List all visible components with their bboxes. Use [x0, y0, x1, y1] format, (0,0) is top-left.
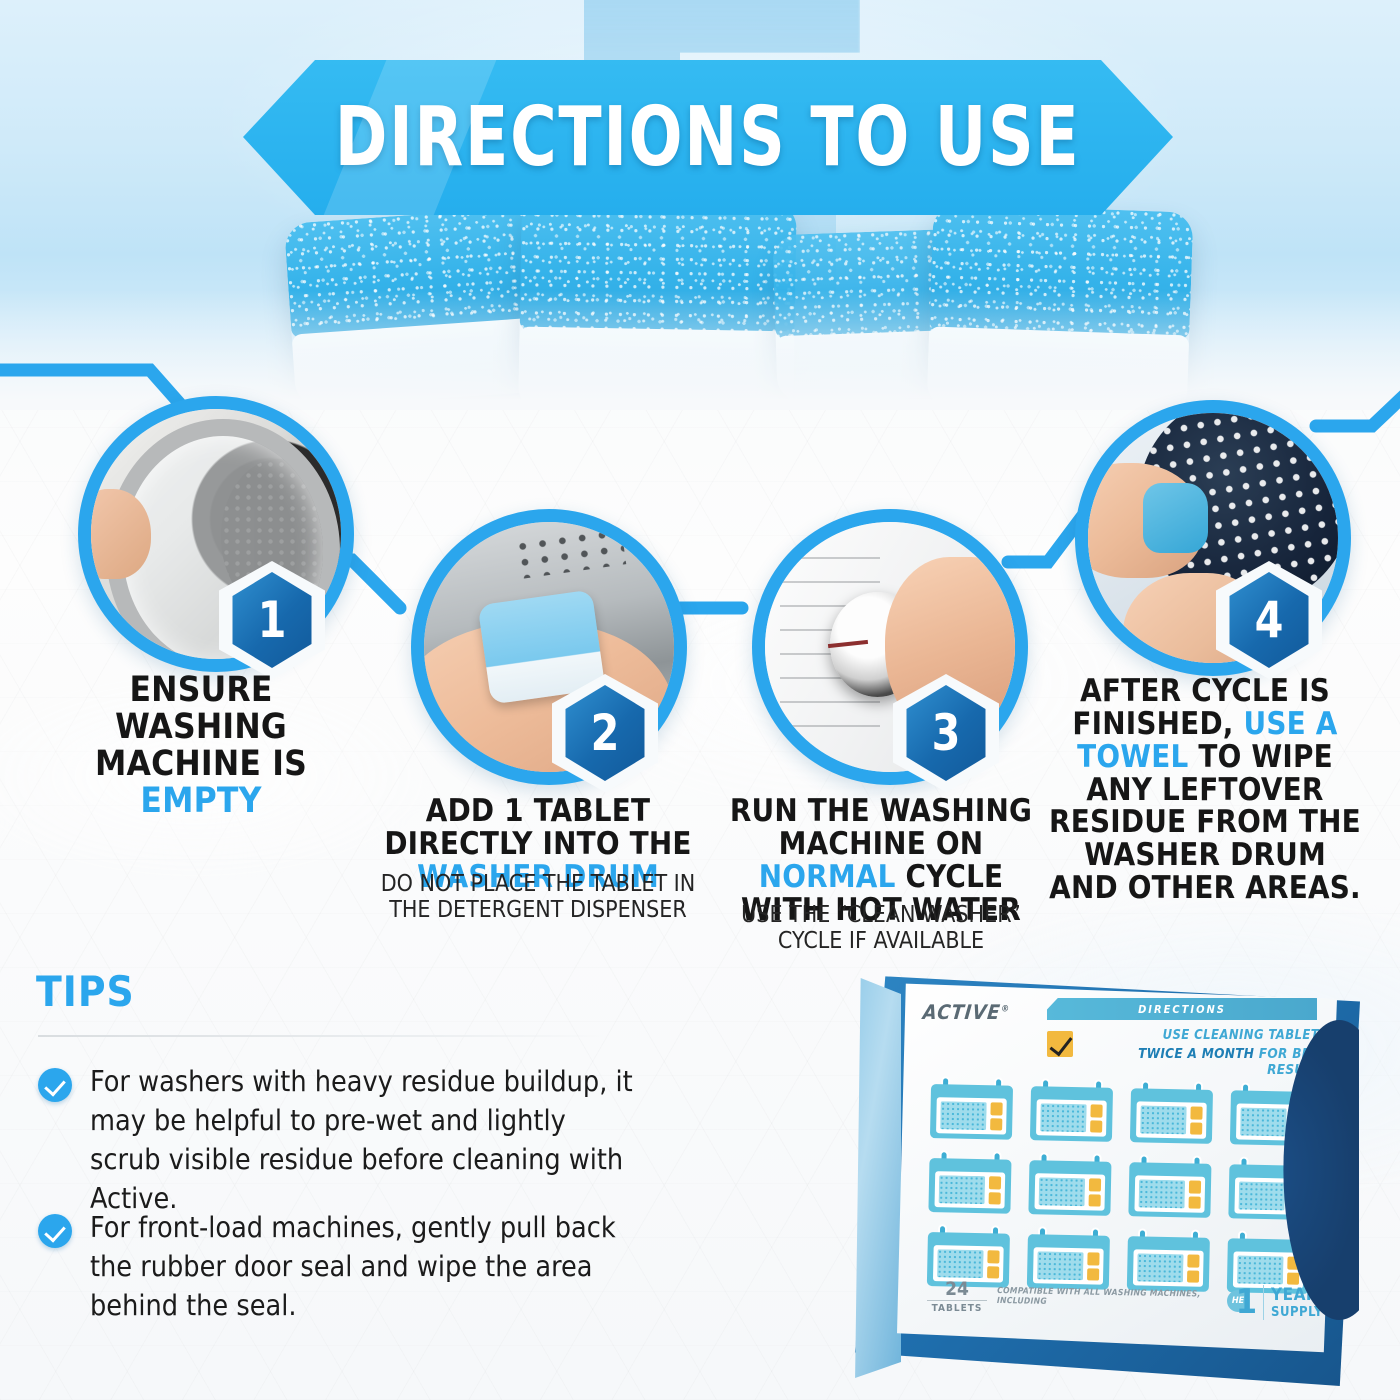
box-checkbox-icon: [1047, 1031, 1073, 1057]
page-title: DIRECTIONS TO USE: [335, 90, 1081, 185]
box-compatibility-text: COMPATIBLE WITH ALL WASHING MACHINES, IN…: [997, 1286, 1227, 1310]
calendar-icon: [1023, 1226, 1114, 1290]
infographic-canvas: DIRECTIONS TO USE 1 ENSURE WASHING MACHI…: [0, 0, 1400, 1400]
product-box-image: ACTIVE® DIRECTIONS USE CLEANING TABLETS …: [845, 960, 1365, 1390]
step-2-number: 2: [591, 704, 620, 762]
step-1-caption: ENSURE WASHING MACHINE IS EMPTY: [46, 672, 356, 820]
step-1-caption-highlight: EMPTY: [140, 781, 261, 821]
box-front-panel: ACTIVE® DIRECTIONS USE CLEANING TABLETS …: [897, 976, 1337, 1356]
box-brand-logo: ACTIVE®: [922, 1000, 1011, 1024]
step-3-caption-pre: RUN THE WASHING MACHINE ON: [730, 793, 1032, 862]
step-4-caption: AFTER CYCLE IS FINISHED, USE A TOWEL TO …: [1045, 675, 1365, 905]
step-3-number: 3: [932, 704, 961, 762]
tip-item-1: For washers with heavy residue buildup, …: [38, 1062, 638, 1218]
tips-heading: TIPS: [36, 967, 135, 1016]
step-2-caption-pre: ADD 1 TABLET DIRECTLY INTO THE: [384, 793, 691, 862]
check-circle-icon: [38, 1214, 72, 1248]
step-4-number: 4: [1255, 591, 1284, 649]
calendar-icon: [1124, 1154, 1215, 1218]
box-instruction-line2: TWICE A MONTH FOR BEST RESULTS: [1083, 1046, 1328, 1078]
box-instruction-line1: USE CLEANING TABLETS: [1083, 1028, 1328, 1043]
header-banner: DIRECTIONS TO USE: [243, 60, 1173, 215]
step-3-caption-highlight: NORMAL: [759, 859, 896, 895]
box-calendar-grid: [923, 1076, 1317, 1294]
calendar-icon: [1123, 1228, 1214, 1292]
step-1-number: 1: [258, 591, 287, 649]
step-3-subtext: USE THE “CLEAN WASHER” CYCLE IF AVAILABL…: [716, 903, 1046, 955]
calendar-icon: [924, 1150, 1015, 1214]
check-circle-icon: [38, 1068, 72, 1102]
tip-1-text: For washers with heavy residue buildup, …: [90, 1062, 638, 1218]
step-1-caption-pre: ENSURE WASHING MACHINE IS: [95, 670, 307, 784]
box-directions-bar: DIRECTIONS: [1047, 998, 1317, 1020]
calendar-icon: [1026, 1078, 1117, 1142]
calendar-icon: [926, 1076, 1017, 1140]
tips-divider: [38, 1035, 608, 1037]
tip-2-text: For front-load machines, gently pull bac…: [90, 1208, 638, 1325]
box-tablet-count: 24 TABLETS: [927, 1278, 987, 1314]
step-2-subtext: DO NOT PLACE THE TABLET IN THE DETERGENT…: [368, 872, 708, 924]
calendar-icon: [1024, 1152, 1115, 1216]
box-left-flap: [845, 978, 901, 1378]
calendar-icon: [1126, 1080, 1217, 1144]
tip-item-2: For front-load machines, gently pull bac…: [38, 1208, 638, 1325]
